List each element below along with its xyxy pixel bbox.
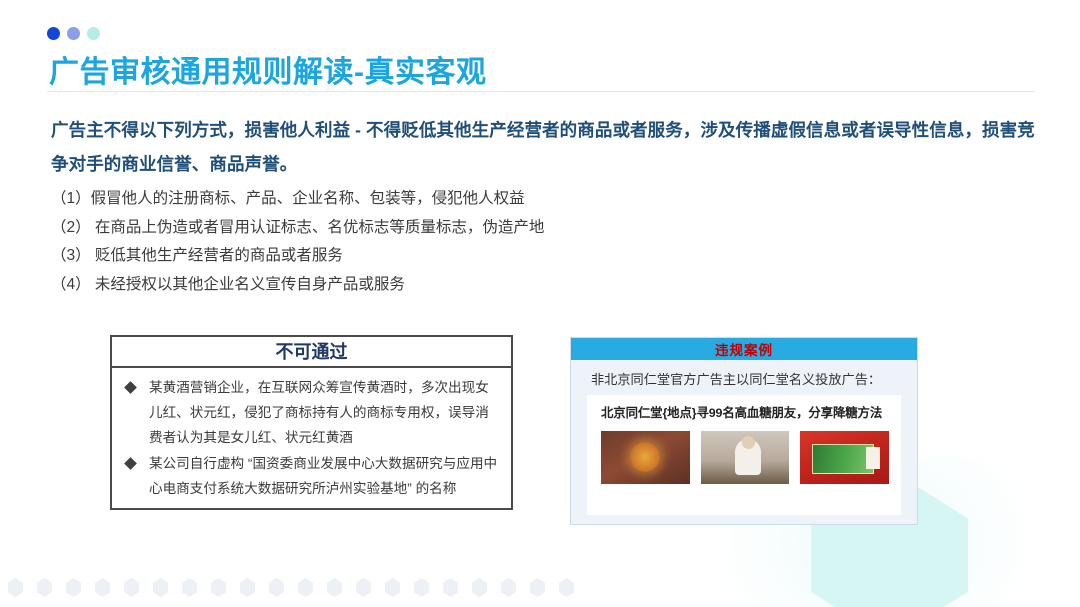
- decorative-dot: [559, 578, 574, 597]
- brand-dots: [47, 27, 100, 40]
- brand-dot-1-icon: [47, 27, 60, 40]
- decorative-dot: [240, 578, 255, 597]
- decorative-dot: [124, 578, 139, 597]
- diamond-bullet-icon: [124, 457, 137, 470]
- thumbnail-green-product: [800, 431, 889, 484]
- list-item: 某公司自行虚构 “国资委商业发展中心大数据研究与应用中心电商支付系统大数据研究所…: [126, 451, 501, 501]
- page-title: 广告审核通用规则解读-真实客观: [49, 47, 487, 91]
- ad-screenshot-card: 北京同仁堂{地点}寻99名高血糖朋友，分享降糖方法: [587, 395, 901, 515]
- rule-item-1: （1）假冒他人的注册商标、产品、企业名称、包装等，侵犯他人权益: [51, 185, 691, 214]
- violation-case-panel: 违规案例 非北京同仁堂官方广告主以同仁堂名义投放广告： 北京同仁堂{地点}寻99…: [570, 337, 918, 525]
- decorative-dot: [443, 578, 458, 597]
- ad-headline-text: 北京同仁堂{地点}寻99名高血糖朋友，分享降糖方法: [601, 406, 889, 422]
- rule-list: （1）假冒他人的注册商标、产品、企业名称、包装等，侵犯他人权益 （2） 在商品上…: [51, 185, 691, 299]
- decorative-dot: [269, 578, 284, 597]
- thumbnail-person-at-desk: [701, 431, 790, 484]
- rule-item-4: （4） 未经授权以其他企业名义宣传自身产品或服务: [51, 271, 691, 300]
- decorative-dot: [327, 578, 342, 597]
- fail-box-body: 某黄酒营销企业，在互联网众筹宣传黄酒时，多次出现女儿红、状元红，侵犯了商标持有人…: [112, 368, 511, 501]
- bottom-dot-strip-decoration: [8, 578, 574, 597]
- decorative-dot: [211, 578, 226, 597]
- ad-thumbnail-row: [601, 431, 889, 484]
- diamond-bullet-icon: [124, 381, 137, 394]
- decorative-dot: [66, 578, 81, 597]
- brand-dot-3-icon: [87, 27, 100, 40]
- decorative-dot: [153, 578, 168, 597]
- decorative-dot: [385, 578, 400, 597]
- decorative-dot: [8, 578, 23, 597]
- header-divider: [47, 91, 1035, 92]
- decorative-dot: [298, 578, 313, 597]
- decorative-dot: [37, 578, 52, 597]
- brand-dot-2-icon: [67, 27, 80, 40]
- rule-item-2: （2） 在商品上伪造或者冒用认证标志、名优标志等质量标志，伪造产地: [51, 214, 691, 243]
- thumbnail-gold-medallion: [601, 431, 690, 484]
- decorative-dot: [182, 578, 197, 597]
- violation-case-caption: 非北京同仁堂官方广告主以同仁堂名义投放广告：: [571, 360, 917, 395]
- lead-paragraph: 广告主不得以下列方式，损害他人利益 - 不得贬低其他生产经营者的商品或者服务，涉…: [51, 113, 1041, 181]
- fail-box-title: 不可通过: [112, 337, 511, 368]
- decorative-dot: [95, 578, 110, 597]
- violation-case-header: 违规案例: [571, 338, 917, 360]
- decorative-dot: [356, 578, 371, 597]
- rule-item-3: （3） 贬低其他生产经营者的商品或者服务: [51, 242, 691, 271]
- fail-box-item-1-text: 某黄酒营销企业，在互联网众筹宣传黄酒时，多次出现女儿红、状元红，侵犯了商标持有人…: [149, 375, 501, 450]
- fail-criteria-box: 不可通过 某黄酒营销企业，在互联网众筹宣传黄酒时，多次出现女儿红、状元红，侵犯了…: [110, 335, 513, 510]
- decorative-dot: [414, 578, 429, 597]
- fail-box-item-2-text: 某公司自行虚构 “国资委商业发展中心大数据研究与应用中心电商支付系统大数据研究所…: [149, 451, 501, 501]
- decorative-dot: [501, 578, 516, 597]
- decorative-dot: [472, 578, 487, 597]
- list-item: 某黄酒营销企业，在互联网众筹宣传黄酒时，多次出现女儿红、状元红，侵犯了商标持有人…: [126, 375, 501, 450]
- decorative-dot: [530, 578, 545, 597]
